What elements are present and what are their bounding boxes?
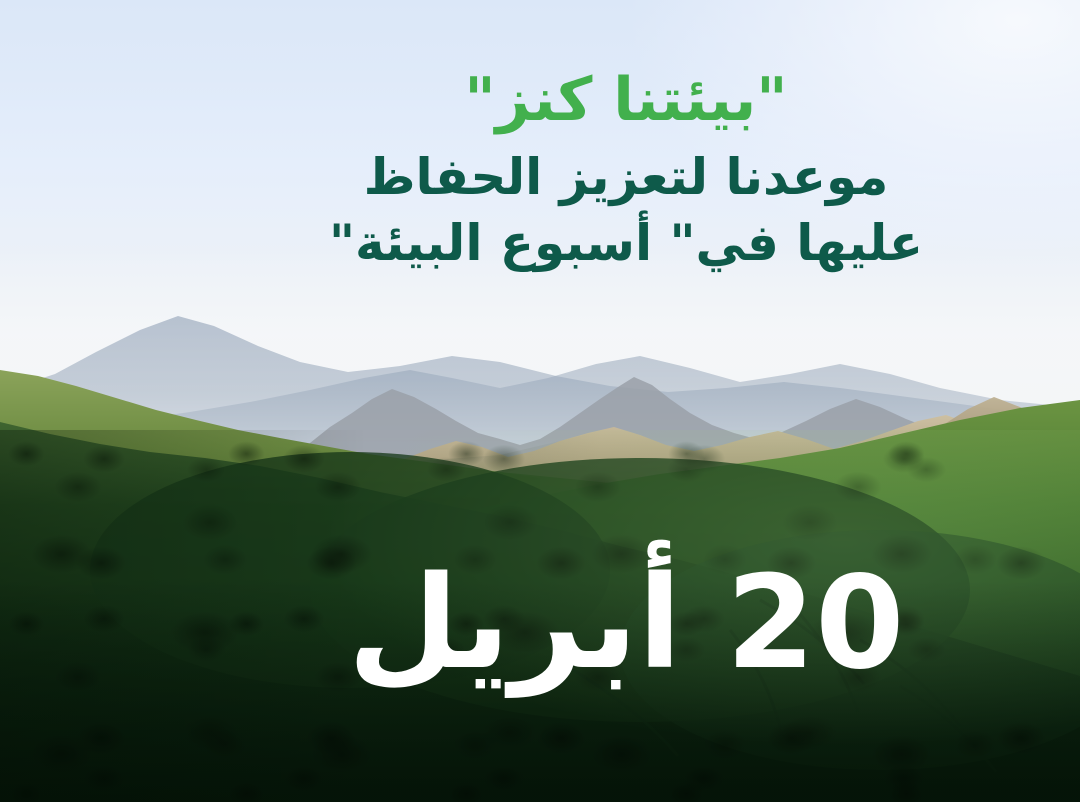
poster-canvas: "بيئتنا كنز" موعدنا لتعزيز الحفاظ عليها … — [0, 0, 1080, 802]
subtitle-line-1: موعدنا لتعزيز الحفاظ — [276, 145, 976, 209]
event-date: 20 أبريل — [276, 560, 976, 688]
headline-text-block: "بيئتنا كنز" موعدنا لتعزيز الحفاظ عليها … — [276, 64, 976, 275]
subtitle-line-2: عليها في" أسبوع البيئة" — [276, 211, 976, 275]
campaign-slogan: "بيئتنا كنز" — [276, 64, 976, 137]
event-date-block: 20 أبريل — [276, 560, 976, 688]
